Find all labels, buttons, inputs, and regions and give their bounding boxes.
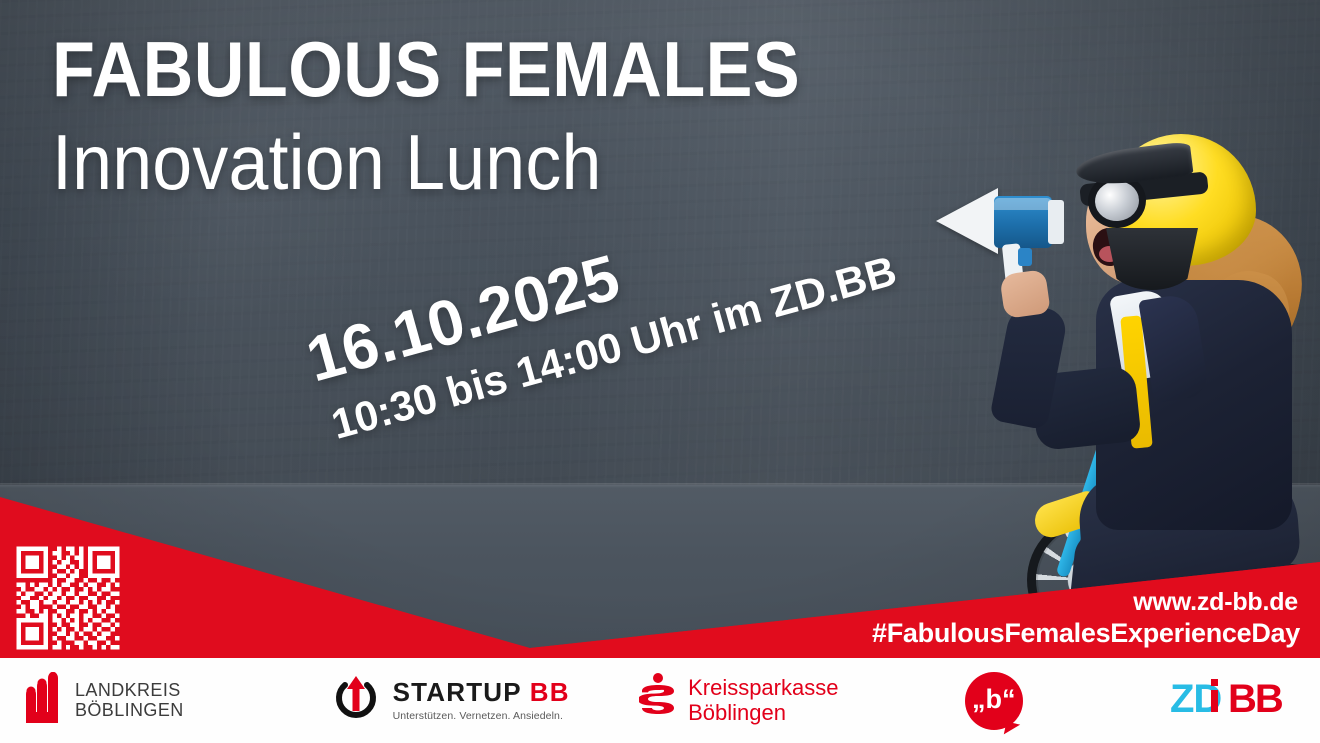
logo-slot-startup[interactable]: STARTUP BB Unterstützen. Vernetzen. Ansi… [311, 673, 590, 728]
logo-slot-zdbb[interactable]: BB ZD [1100, 679, 1320, 723]
headline-block: FABULOUS FEMALES Innovation Lunch [52, 32, 952, 200]
zdbb-mark-icon-dot [1211, 679, 1218, 686]
startup-accent: BB [530, 677, 570, 707]
landkreis-line1: LANDKREIS [75, 680, 181, 700]
helmet-rim [1106, 228, 1198, 290]
logo-slot-landkreis[interactable]: LANDKREIS BÖBLINGEN [0, 672, 311, 729]
zdbb-mark-icon-stem [1211, 690, 1218, 712]
hand [999, 269, 1051, 319]
event-poster: FABULOUS FEMALES Innovation Lunch 16.10.… [0, 0, 1320, 743]
kreissparkasse-boeblingen-logo[interactable]: Kreissparkasse Böblingen [639, 673, 838, 728]
startup-main: STARTUP [393, 677, 522, 707]
zdbb-logo[interactable]: BB ZD [1170, 679, 1292, 723]
b-bubble-label: „b“ [965, 672, 1023, 730]
kreissparkasse-logo-text: Kreissparkasse Böblingen [688, 676, 838, 725]
sponsor-footer-bar: LANDKREIS BÖBLINGEN STARTUP [0, 658, 1320, 743]
kreissparkasse-line1: Kreissparkasse [688, 675, 838, 700]
poster-title-primary: FABULOUS FEMALES [52, 32, 862, 107]
megaphone-trigger [1018, 248, 1032, 266]
b-speech-bubble-logo[interactable]: „b“ [965, 672, 1023, 730]
zdbb-part2: BB [1228, 679, 1282, 719]
logo-slot-b-bubble[interactable]: „b“ [888, 672, 1100, 730]
megaphone-back [1048, 200, 1064, 244]
startup-logo-text: STARTUP BB Unterstützen. Vernetzen. Ansi… [393, 679, 570, 721]
megaphone-highlight [994, 198, 1052, 210]
startup-wordmark: STARTUP BB [393, 679, 570, 706]
kreissparkasse-line2: Böblingen [688, 700, 786, 725]
startup-bb-logo[interactable]: STARTUP BB Unterstützen. Vernetzen. Ansi… [331, 673, 570, 728]
logo-slot-kreissparkasse[interactable]: Kreissparkasse Böblingen [590, 673, 888, 728]
startup-tagline: Unterstützen. Vernetzen. Ansiedeln. [393, 710, 570, 722]
landkreis-logo-text: LANDKREIS BÖBLINGEN [75, 681, 184, 719]
sparkasse-s-icon [639, 673, 677, 728]
qr-code[interactable] [12, 542, 124, 654]
landkreis-boeblingen-logo[interactable]: LANDKREIS BÖBLINGEN [22, 672, 184, 729]
poster-title-secondary: Innovation Lunch [52, 125, 880, 200]
website-url[interactable]: www.zd-bb.de [1133, 588, 1298, 617]
power-arrow-icon [331, 673, 381, 728]
three-figures-icon [22, 672, 66, 729]
event-hashtag: #FabulousFemalesExperienceDay [872, 618, 1300, 649]
landkreis-line2: BÖBLINGEN [75, 700, 184, 720]
